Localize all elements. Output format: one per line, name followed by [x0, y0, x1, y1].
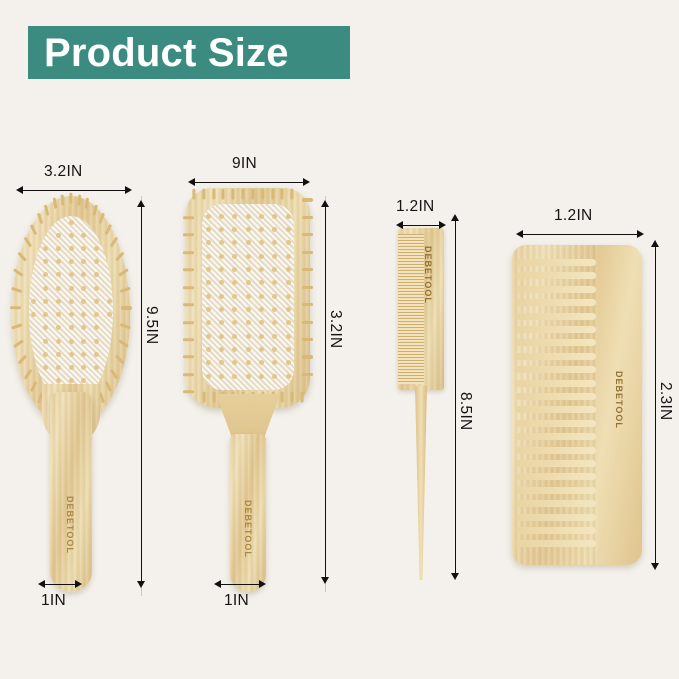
brush-bristle	[219, 374, 224, 379]
brush-bristle	[99, 213, 106, 224]
brush-bristle	[18, 354, 28, 364]
brush-bristle	[77, 194, 81, 205]
wide-comb-tooth	[516, 420, 596, 427]
brush-bristle	[232, 254, 237, 259]
brush-bristle	[281, 189, 284, 200]
brush-bristle	[56, 352, 61, 357]
brush-bristle	[286, 240, 291, 245]
brush-bristle	[92, 204, 98, 215]
brush-bristle	[246, 254, 251, 259]
dimension-arrow-paddle-width	[188, 178, 310, 187]
brush-bristle	[219, 320, 224, 325]
brush-bristle	[69, 259, 74, 264]
brush-bristle	[246, 307, 251, 312]
brush-bristle	[302, 355, 313, 358]
brush-bristle	[183, 338, 194, 341]
brush-bristle	[286, 254, 291, 259]
brush-bristle	[94, 365, 99, 370]
brush-bristle	[302, 233, 313, 236]
brush-bristle	[286, 334, 291, 339]
brand-engraving: DEBETOOL	[243, 500, 253, 558]
brush-bristle	[31, 312, 36, 317]
brush-bristle	[241, 189, 244, 200]
brush-bristle	[259, 240, 264, 245]
wide-comb-tooth	[516, 473, 596, 480]
brush-bristle	[81, 339, 86, 344]
dimension-arrow-paddle-handle	[214, 580, 266, 589]
brush-bristle	[183, 321, 194, 324]
brush-bristle	[259, 334, 264, 339]
brush-bristle	[69, 325, 74, 330]
brush-bristle	[120, 323, 131, 329]
brush-bristle	[302, 338, 313, 341]
brush-bristle	[272, 214, 277, 219]
paddle-head	[186, 188, 310, 408]
dimension-label-widecomb-width: 1.2IN	[554, 207, 593, 225]
brush-bristle	[183, 390, 194, 393]
dimension-label-paddle-width: 9IN	[232, 155, 257, 173]
wide-comb-tooth	[516, 353, 596, 360]
brush-bristle	[302, 286, 313, 289]
brush-bristle	[56, 299, 61, 304]
brush-bristle	[219, 347, 224, 352]
wide-comb-tooth	[516, 380, 596, 387]
brush-bristle	[105, 224, 113, 235]
brush-bristle	[206, 254, 211, 259]
wide-comb-tooth	[516, 272, 596, 279]
wide-comb-body: DEBETOOL	[512, 245, 642, 565]
brush-bristle	[69, 339, 74, 344]
brush-bristle	[259, 227, 264, 232]
brush-bristle	[183, 216, 194, 219]
brush-bristle	[202, 392, 205, 403]
brush-bristle	[94, 259, 99, 264]
brush-bristle	[118, 268, 129, 277]
brand-engraving: DEBETOOL	[423, 246, 433, 304]
brush-bristle	[246, 360, 251, 365]
brush-bristle	[259, 214, 264, 219]
dimension-label-oval-handle: 1IN	[41, 592, 66, 610]
brush-bristle	[286, 360, 291, 365]
brush-bristle	[61, 194, 65, 205]
brush-bristle	[13, 339, 24, 348]
brush-bristle	[69, 365, 74, 370]
brush-bristle	[183, 233, 194, 236]
brush-bristle	[291, 392, 294, 403]
page-title-banner: Product Size	[28, 26, 350, 79]
brush-bristle	[286, 374, 291, 379]
brush-bristle	[246, 280, 251, 285]
wide-comb-tooth	[516, 487, 596, 494]
brush-bristle	[11, 323, 22, 329]
wide-comb-tooth	[516, 393, 596, 400]
brush-bristle	[259, 307, 264, 312]
brush-bristle	[31, 299, 36, 304]
brush-bristle	[69, 378, 74, 383]
brush-bristle	[302, 321, 313, 324]
brush-bristle	[56, 339, 61, 344]
brush-bristle	[246, 294, 251, 299]
brush-bristle	[286, 320, 291, 325]
brush-bristle	[202, 189, 205, 200]
brush-bristle	[94, 286, 99, 291]
brush-bristle	[246, 240, 251, 245]
tail-comb-tail	[415, 386, 427, 580]
brush-bristle	[81, 233, 86, 238]
brush-bristle	[302, 198, 313, 201]
brush-bristle	[94, 352, 99, 357]
brush-bristle	[219, 334, 224, 339]
brush-bristle	[259, 254, 264, 259]
brush-bristle	[69, 246, 74, 251]
brush-bristle	[302, 303, 313, 306]
brush-bristle	[272, 347, 277, 352]
brush-bristle	[300, 392, 303, 403]
brush-bristle	[29, 224, 37, 235]
brush-bristle	[302, 373, 313, 376]
brush-bristle	[52, 198, 57, 209]
wide-comb-tooth	[516, 286, 596, 293]
dimension-arrow-tailcomb-width	[396, 221, 446, 230]
brush-bristle	[219, 360, 224, 365]
brush-bristle	[246, 374, 251, 379]
brush-bristle	[246, 267, 251, 272]
brush-bristle	[246, 347, 251, 352]
brush-bristle	[219, 280, 224, 285]
brush-bristle	[291, 189, 294, 200]
brush-bristle	[183, 373, 194, 376]
brush-bristle	[94, 299, 99, 304]
brush-bristle	[246, 334, 251, 339]
dimension-arrow-oval-handle	[38, 580, 82, 589]
brush-bristle	[232, 374, 237, 379]
brush-bristle	[44, 204, 50, 215]
wide-comb-tooth	[516, 527, 596, 534]
brush-bristle	[281, 392, 284, 403]
wide-comb-tooth	[516, 313, 596, 320]
brush-bristle	[246, 214, 251, 219]
brush-bristle	[259, 360, 264, 365]
brush-bristle	[272, 307, 277, 312]
product-tail-comb: DEBETOOL	[398, 228, 444, 580]
brush-bristle	[302, 268, 313, 271]
brush-bristle	[286, 227, 291, 232]
dimension-arrow-widecomb-width	[516, 230, 644, 239]
wide-comb-tooth	[516, 259, 596, 266]
dimension-label-paddle-height: 3.2IN	[326, 310, 344, 349]
brush-bristle	[219, 267, 224, 272]
product-size-infographic: Product Size DEBETOOL 3.2IN 9.5IN 1IN DE…	[0, 0, 679, 679]
wide-comb-tooth	[516, 406, 596, 413]
brush-bristle	[219, 254, 224, 259]
paddle-handle: DEBETOOL	[230, 434, 266, 592]
brush-bristle	[259, 320, 264, 325]
brush-bristle	[94, 246, 99, 251]
brush-bristle	[206, 280, 211, 285]
brush-bristle	[286, 347, 291, 352]
brush-bristle	[192, 189, 195, 200]
brush-bristle	[259, 280, 264, 285]
brush-bristle	[13, 268, 24, 277]
brush-bristle	[43, 339, 48, 344]
brush-bristle	[43, 352, 48, 357]
brush-bristle	[219, 307, 224, 312]
brand-engraving: DEBETOOL	[614, 371, 624, 429]
brush-bristle	[105, 381, 113, 392]
brush-bristle	[69, 312, 74, 317]
wide-comb-tooth	[516, 326, 596, 333]
dimension-label-oval-height: 9.5IN	[142, 306, 160, 345]
brush-bristle	[232, 294, 237, 299]
wide-comb-tooth	[516, 500, 596, 507]
brush-bristle	[110, 237, 119, 248]
wide-comb-tooth	[516, 447, 596, 454]
dimension-label-oval-width: 3.2IN	[44, 163, 83, 181]
brush-bristle	[183, 286, 194, 289]
brush-bristle	[259, 267, 264, 272]
product-wide-tooth-comb: DEBETOOL	[512, 245, 642, 565]
brush-bristle	[81, 352, 86, 357]
brush-handle: DEBETOOL	[50, 392, 92, 592]
wide-comb-tooth	[516, 366, 596, 373]
brush-bristle	[81, 286, 86, 291]
brush-bristle	[107, 299, 112, 304]
brand-engraving: DEBETOOL	[65, 496, 75, 554]
brush-bristle	[259, 347, 264, 352]
brush-bristle	[259, 374, 264, 379]
brush-bristle	[232, 267, 237, 272]
dimension-label-widecomb-height: 2.3IN	[656, 382, 674, 421]
brush-bristle	[56, 312, 61, 317]
brush-bristle	[206, 320, 211, 325]
brush-bristle	[219, 294, 224, 299]
brush-bristle	[286, 307, 291, 312]
brush-bristle	[271, 189, 274, 200]
brush-bristle	[11, 287, 22, 293]
brush-bristle	[120, 287, 131, 293]
brush-bristle	[206, 347, 211, 352]
brush-bristle	[259, 294, 264, 299]
brush-bristle	[69, 299, 74, 304]
brush-bristle	[232, 227, 237, 232]
wide-comb-tooth	[516, 514, 596, 521]
product-oval-cushion-brush: DEBETOOL	[12, 196, 130, 592]
brush-bristle	[232, 334, 237, 339]
brush-bristle	[219, 240, 224, 245]
dimension-arrow-paddle-height	[321, 200, 330, 584]
brush-bristle	[206, 334, 211, 339]
brush-bristle	[272, 334, 277, 339]
wide-comb-tooth	[516, 433, 596, 440]
brush-bristle	[212, 189, 215, 200]
brush-bristle	[69, 220, 74, 225]
brush-bristle	[56, 286, 61, 291]
brush-bristle	[107, 312, 112, 317]
brush-bristle	[232, 189, 235, 200]
wide-comb-tooth	[516, 460, 596, 467]
dimension-arrow-oval-width	[16, 186, 132, 195]
brush-bristle	[246, 320, 251, 325]
brush-bristle	[251, 189, 254, 200]
brush-bristle	[206, 307, 211, 312]
brush-bristle	[69, 352, 74, 357]
brush-bristle	[232, 214, 237, 219]
brush-bristle	[23, 368, 32, 379]
page-title: Product Size	[44, 33, 289, 73]
brush-bristle	[246, 227, 251, 232]
dimension-label-tailcomb-height: 8.5IN	[456, 392, 474, 431]
brush-bristle	[272, 374, 277, 379]
brush-bristle	[183, 268, 194, 271]
brush-bristle	[272, 294, 277, 299]
brush-bristle	[114, 252, 124, 262]
brush-bristle	[206, 214, 211, 219]
brush-bristle	[56, 233, 61, 238]
dimension-label-paddle-handle: 1IN	[224, 592, 249, 610]
brush-bristle	[23, 237, 32, 248]
brush-bristle	[206, 360, 211, 365]
brush-bristle	[302, 251, 313, 254]
wide-comb-tooth	[516, 339, 596, 346]
product-paddle-brush: DEBETOOL	[186, 188, 310, 592]
brush-bristle	[183, 251, 194, 254]
brush-bristle	[56, 246, 61, 251]
brush-bristle	[18, 252, 28, 262]
brush-bristle	[56, 365, 61, 370]
brush-bristle	[261, 189, 264, 200]
dimension-arrow-oval-height	[137, 200, 146, 588]
brush-bristle	[286, 267, 291, 272]
brush-bristle	[232, 347, 237, 352]
brush-bristle	[222, 189, 225, 200]
brush-bristle	[286, 214, 291, 219]
brush-bristle	[206, 240, 211, 245]
brush-bristle	[302, 216, 313, 219]
brush-bristle	[212, 392, 215, 403]
brush-bristle	[121, 306, 132, 309]
brush-bristle	[206, 267, 211, 272]
brush-bristle	[286, 294, 291, 299]
brush-bristle	[183, 303, 194, 306]
brush-bristle	[56, 259, 61, 264]
brush-bristle	[219, 227, 224, 232]
brush-bristle	[206, 374, 211, 379]
brush-bristle	[94, 312, 99, 317]
wide-comb-tooth	[516, 299, 596, 306]
brush-bristle	[118, 339, 129, 348]
brush-bristle	[206, 294, 211, 299]
brush-bristle	[272, 267, 277, 272]
brush-bristle	[85, 198, 90, 209]
brush-bristle	[114, 354, 124, 364]
tail-comb-body: DEBETOOL	[398, 228, 444, 390]
brush-bristle	[10, 306, 21, 309]
brush-bristle	[286, 280, 291, 285]
brush-bristle	[272, 254, 277, 259]
brush-bristle	[219, 214, 224, 219]
brush-bristle	[206, 227, 211, 232]
brush-bristle	[94, 339, 99, 344]
brush-bristle	[43, 286, 48, 291]
brush-bristle	[29, 381, 37, 392]
brush-bristle	[232, 307, 237, 312]
dimension-label-tailcomb-width: 1.2IN	[396, 198, 435, 216]
brush-bristle	[272, 227, 277, 232]
brush-bristle	[69, 233, 74, 238]
brush-bristle	[69, 286, 74, 291]
tail-comb-teeth	[398, 234, 424, 384]
brush-bristle	[36, 213, 43, 224]
brush-bristle	[110, 368, 119, 379]
brush-bristle	[183, 355, 194, 358]
wide-comb-tooth	[516, 540, 596, 547]
